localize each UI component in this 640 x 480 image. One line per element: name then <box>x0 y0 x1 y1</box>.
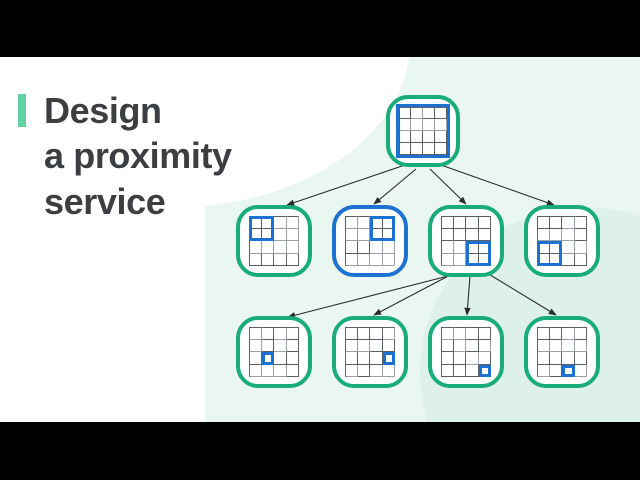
tree-node-l1-n4[interactable] <box>524 205 600 277</box>
tree-node-l1-n2[interactable] <box>332 205 408 277</box>
quadtree-grid-l2-n3 <box>441 327 491 377</box>
title-line-3: service <box>44 179 232 224</box>
title-text: Design a proximity service <box>44 88 232 224</box>
slide-title: Design a proximity service <box>18 88 232 224</box>
quadtree-grid-l1-n1 <box>249 216 299 266</box>
tree-node-l2-n2[interactable] <box>332 316 408 388</box>
tree-node-l2-n3[interactable] <box>428 316 504 388</box>
tree-node-root[interactable] <box>386 95 460 167</box>
quadtree-grid-root <box>399 107 447 155</box>
quadtree-grid-l2-n2 <box>345 327 395 377</box>
title-line-2: a proximity <box>44 133 232 178</box>
title-line-1: Design <box>44 88 232 133</box>
tree-node-l2-n1[interactable] <box>236 316 312 388</box>
letterbox-bar-bottom <box>0 422 640 480</box>
tree-node-l1-n1[interactable] <box>236 205 312 277</box>
quadtree-grid-l2-n1 <box>249 327 299 377</box>
letterbox-bar-top <box>0 0 640 57</box>
quadtree-grid-l1-n4 <box>537 216 587 266</box>
title-accent-bar <box>18 94 26 127</box>
quadtree-grid-l1-n3 <box>441 216 491 266</box>
slide-canvas: Design a proximity service <box>0 57 640 422</box>
tree-node-l2-n4[interactable] <box>524 316 600 388</box>
quadtree-grid-l2-n4 <box>537 327 587 377</box>
video-frame: Design a proximity service <box>0 0 640 480</box>
tree-node-l1-n3[interactable] <box>428 205 504 277</box>
quadtree-grid-l1-n2 <box>345 216 395 266</box>
